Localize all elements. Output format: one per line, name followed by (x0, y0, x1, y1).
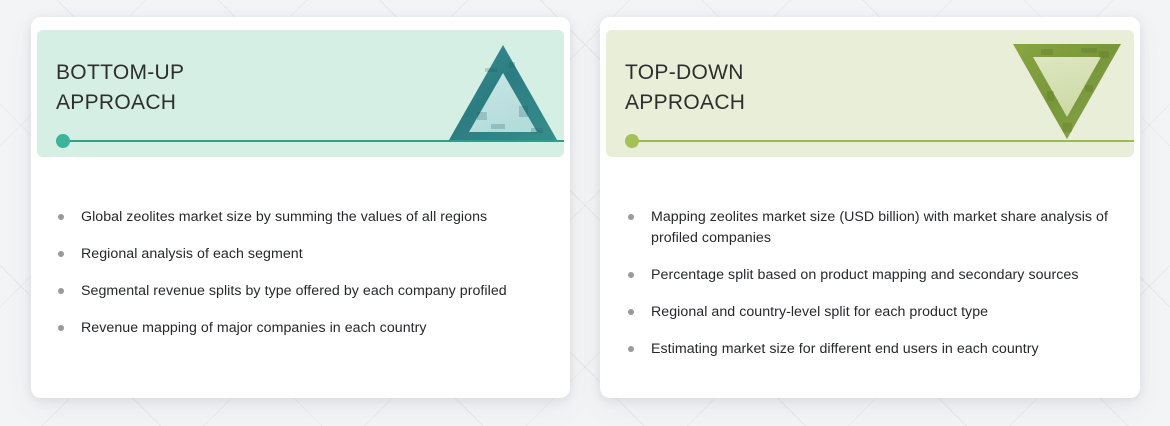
list-item: Estimating market size for different end… (628, 339, 1110, 360)
list-item-text: Percentage split based on product mappin… (651, 265, 1078, 286)
bullet-dot-icon (58, 288, 64, 294)
list-item: Regional analysis of each segment (58, 244, 552, 265)
accent-line-bottom-up (56, 140, 564, 142)
card-title-top-down: TOP-DOWN APPROACH (625, 58, 745, 118)
bullet-dot-icon (628, 214, 634, 220)
card-title-bottom-up: BOTTOM-UP APPROACH (56, 58, 184, 118)
card-bottom-up-approach: BOTTOM-UP APPROACH Global zeolites marke… (31, 17, 570, 398)
list-item-text: Regional analysis of each segment (81, 244, 303, 265)
bullet-dot-icon (628, 272, 634, 278)
accent-line-top-down (625, 140, 1134, 142)
list-item: Segmental revenue splits by type offered… (58, 281, 552, 302)
triangle-down-icon (1011, 39, 1123, 142)
list-item: Mapping zeolites market size (USD billio… (628, 207, 1110, 249)
bullet-dot-icon (58, 251, 64, 257)
list-item-text: Regional and country-level split for eac… (651, 302, 988, 323)
bullet-dot-icon (58, 214, 64, 220)
bullet-list-bottom-up: Global zeolites market size by summing t… (31, 207, 570, 355)
card-header-bottom-up: BOTTOM-UP APPROACH (37, 30, 564, 157)
list-item-text: Estimating market size for different end… (651, 339, 1039, 360)
list-item: Regional and country-level split for eac… (628, 302, 1110, 323)
bullet-dot-icon (628, 346, 634, 352)
accent-dot-bottom-up (56, 134, 70, 148)
card-top-down-approach: TOP-DOWN APPROACH Mapping zeolites marke… (600, 17, 1140, 398)
list-item-text: Mapping zeolites market size (USD billio… (651, 207, 1110, 249)
list-item: Percentage split based on product mappin… (628, 265, 1110, 286)
list-item-text: Segmental revenue splits by type offered… (81, 281, 507, 302)
list-item: Revenue mapping of major companies in ea… (58, 318, 552, 339)
bullet-dot-icon (58, 325, 64, 331)
list-item: Global zeolites market size by summing t… (58, 207, 552, 228)
bullet-dot-icon (628, 309, 634, 315)
triangle-up-icon (447, 40, 559, 143)
bullet-list-top-down: Mapping zeolites market size (USD billio… (600, 207, 1140, 376)
list-item-text: Revenue mapping of major companies in ea… (81, 318, 427, 339)
accent-dot-top-down (625, 134, 639, 148)
list-item-text: Global zeolites market size by summing t… (81, 207, 487, 228)
card-header-top-down: TOP-DOWN APPROACH (606, 30, 1134, 157)
approach-comparison-panel: BOTTOM-UP APPROACH Global zeolites marke… (0, 0, 1170, 426)
